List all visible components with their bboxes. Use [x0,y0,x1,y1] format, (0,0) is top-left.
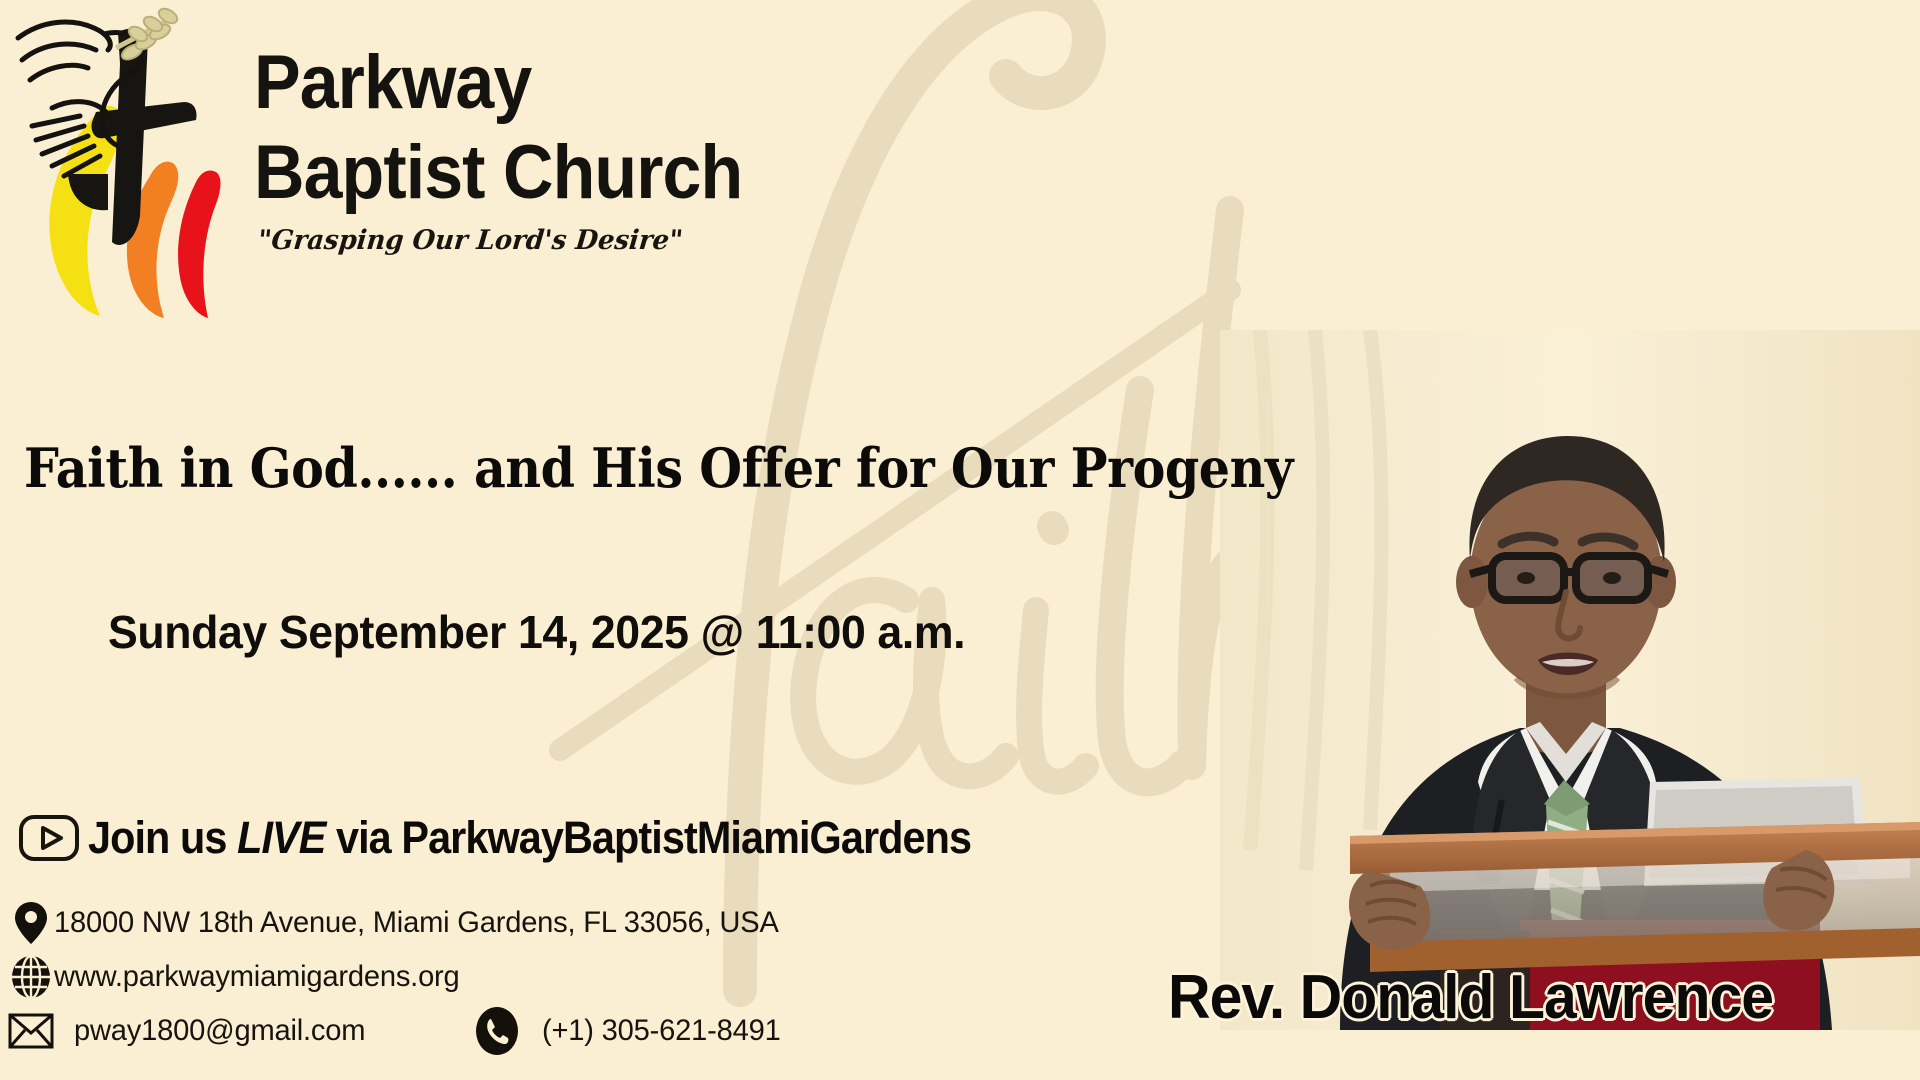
envelope-icon [8,1007,54,1055]
speaker-name: Rev. Donald Lawrence [1168,962,1773,1033]
live-suffix: via ParkwayBaptistMiamiGardens [325,812,971,863]
phone-group: (+1) 305-621-8491 [474,1007,788,1055]
map-pin-icon [8,899,54,947]
address-text: 18000 NW 18th Avenue, Miami Gardens, FL … [54,906,779,940]
logo-name-line-1: Parkway [254,46,705,120]
website-text[interactable]: www.parkwaymiamigardens.org [54,960,460,994]
sermon-title: Faith in God...... and His Offer for Our… [24,440,1293,497]
email-text[interactable]: pway1800@gmail.com [74,1014,365,1048]
email-phone-row: pway1800@gmail.com (+1) 305-621-8491 [8,1004,958,1058]
phone-icon [474,1007,520,1055]
service-datetime: Sunday September 14, 2025 @ 11:00 a.m. [108,605,965,659]
church-logo: Parkway Baptist Church "Grasping Our Lor… [8,4,748,324]
live-stream-label: Join us LIVE via ParkwayBaptistMiamiGard… [88,812,971,864]
contact-block: 18000 NW 18th Avenue, Miami Gardens, FL … [8,896,958,1058]
preacher-photo [1220,330,1920,1030]
logo-name-line-2: Baptist Church [254,136,705,210]
live-emphasis: LIVE [237,812,325,863]
address-row: 18000 NW 18th Avenue, Miami Gardens, FL … [8,896,958,950]
globe-icon [8,953,54,1001]
logo-wordmark: Parkway Baptist Church "Grasping Our Lor… [254,46,744,256]
phone-text[interactable]: (+1) 305-621-8491 [542,1014,781,1048]
youtube-play-icon[interactable] [18,814,80,862]
live-stream-row[interactable]: Join us LIVE via ParkwayBaptistMiamiGard… [18,812,1048,864]
logo-tagline: "Grasping Our Lord's Desire" [256,225,726,256]
website-row[interactable]: www.parkwaymiamigardens.org [8,950,958,1004]
service-announcement-poster: Parkway Baptist Church "Grasping Our Lor… [0,0,1920,1080]
live-prefix: Join us [88,812,237,863]
logo-mark [8,4,248,324]
